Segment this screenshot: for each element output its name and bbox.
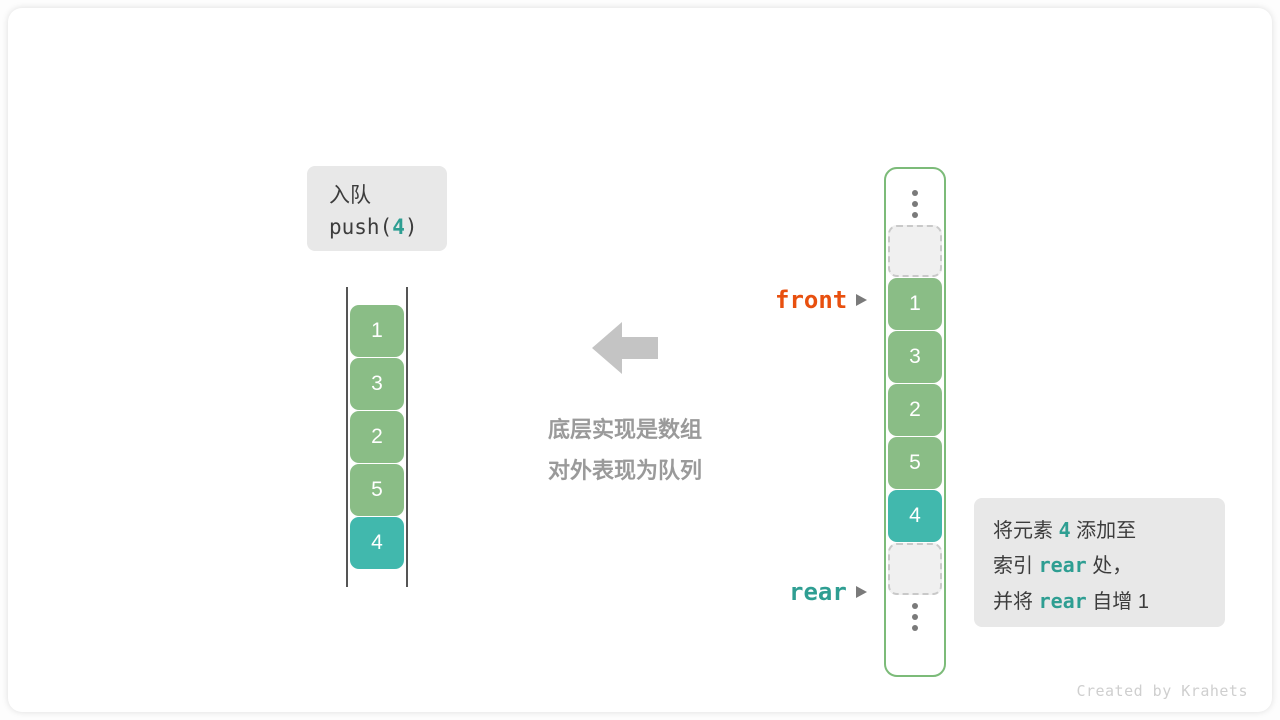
queue-rail-left (346, 287, 348, 587)
figure-caption: 底层实现是数组 对外表现为队列 (500, 410, 750, 491)
push-call-prefix: push( (329, 215, 392, 239)
queue-cell: 1 (350, 305, 404, 357)
rear-pointer-label: rear (789, 578, 867, 606)
ellipsis-bottom-icon (888, 596, 942, 638)
op-note-l1a: 将元素 (993, 520, 1059, 542)
op-note-l2b: rear (1039, 553, 1087, 577)
array-slot: 2 (888, 384, 942, 436)
op-note-l2a: 索引 (993, 555, 1039, 577)
queue-rail-right (406, 287, 408, 587)
arrow-left-icon (592, 320, 658, 376)
array-slot: 5 (888, 437, 942, 489)
array-slot-new: 4 (888, 490, 942, 542)
queue-cell-list: 1 3 2 5 4 (350, 305, 404, 570)
array-backing-store: 1 3 2 5 4 (884, 167, 946, 677)
op-note-l3b: rear (1039, 589, 1087, 613)
queue-cell-new: 4 (350, 517, 404, 569)
ellipsis-top-icon (888, 183, 942, 225)
op-note-l2c: 处， (1087, 555, 1133, 577)
queue-abstract-view: 1 3 2 5 4 (346, 287, 408, 587)
front-pointer-arrow-icon (856, 294, 867, 306)
queue-cell: 5 (350, 464, 404, 516)
front-pointer-label: front (775, 286, 867, 314)
op-note-line3: 并将 rear 自增 1 (993, 584, 1225, 619)
credit-text: Created by Krahets (1076, 682, 1248, 700)
caption-line2: 对外表现为队列 (500, 451, 750, 492)
array-slot-empty (888, 543, 942, 595)
array-slot-list: 1 3 2 5 4 (888, 183, 942, 638)
figure-canvas: 入队 push(4) 1 3 2 5 4 底层实现是数组 对外表现为队列 1 3… (0, 0, 1280, 720)
queue-cell: 2 (350, 411, 404, 463)
push-label-line2: push(4) (329, 212, 447, 242)
push-call-value: 4 (392, 215, 405, 239)
operation-description-note: 将元素 4 添加至 索引 rear 处， 并将 rear 自增 1 (974, 498, 1225, 627)
push-operation-label: 入队 push(4) (307, 166, 447, 251)
rear-pointer-text: rear (789, 578, 847, 606)
op-note-line1: 将元素 4 添加至 (993, 513, 1225, 548)
queue-cell: 3 (350, 358, 404, 410)
push-call-suffix: ) (405, 215, 418, 239)
op-note-l1c: 添加至 (1071, 520, 1137, 542)
rear-pointer-arrow-icon (856, 586, 867, 598)
push-label-line1: 入队 (329, 180, 447, 212)
op-note-l3c: 自增 1 (1087, 591, 1149, 613)
array-slot: 1 (888, 278, 942, 330)
array-slot: 3 (888, 331, 942, 383)
op-note-l1b: 4 (1059, 518, 1071, 542)
array-slot-empty (888, 225, 942, 277)
front-pointer-text: front (775, 286, 847, 314)
op-note-l3a: 并将 (993, 591, 1039, 613)
op-note-line2: 索引 rear 处， (993, 548, 1225, 583)
caption-line1: 底层实现是数组 (500, 410, 750, 451)
